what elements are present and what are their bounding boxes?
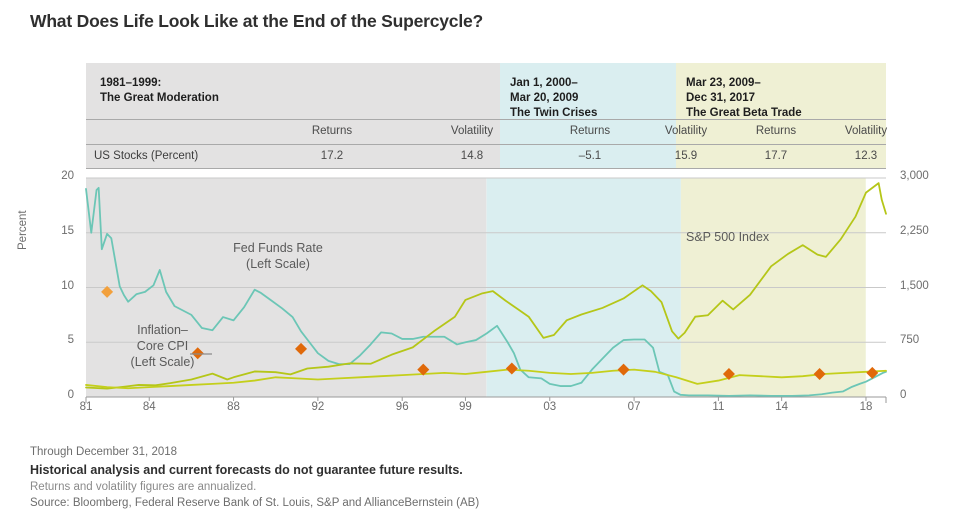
y-axis-tick-label: 0 [40, 389, 74, 401]
y2-axis-tick-label: 0 [900, 389, 950, 401]
annotation-inflation-line1: Inflation– [100, 322, 225, 338]
annotation-sp500: S&P 500 Index [686, 229, 806, 245]
y2-axis-tick-label: 2,250 [900, 225, 950, 237]
x-axis-tick-label: 03 [530, 401, 570, 413]
y2-axis-tick-label: 750 [900, 334, 950, 346]
footer-through: Through December 31, 2018 [30, 446, 177, 458]
x-axis-tick-label: 18 [846, 401, 886, 413]
x-axis-tick-label: 81 [66, 401, 106, 413]
chart-canvas [0, 0, 964, 514]
x-axis-tick-label: 92 [298, 401, 338, 413]
y2-axis-tick-label: 1,500 [900, 280, 950, 292]
y-axis-tick-label: 10 [40, 280, 74, 292]
x-axis-tick-label: 96 [382, 401, 422, 413]
footer-note: Returns and volatility figures are annua… [30, 481, 256, 493]
x-axis-tick-label: 11 [698, 401, 738, 413]
y-axis-tick-label: 15 [40, 225, 74, 237]
x-axis-tick-label: 07 [614, 401, 654, 413]
annotation-inflation: Inflation– Core CPI (Left Scale) [100, 322, 225, 370]
annotation-inflation-line2: Core CPI [100, 338, 225, 354]
y-axis-tick-label: 20 [40, 170, 74, 182]
x-axis-tick-label: 88 [214, 401, 254, 413]
annotation-fed-funds-line2: (Left Scale) [198, 256, 358, 272]
x-axis-tick-label: 84 [129, 401, 169, 413]
y-axis-tick-label: 5 [40, 334, 74, 346]
chart-page: What Does Life Look Like at the End of t… [0, 0, 964, 514]
annotation-fed-funds-line1: Fed Funds Rate [198, 240, 358, 256]
annotation-fed-funds: Fed Funds Rate (Left Scale) [198, 240, 358, 272]
annotation-inflation-line3: (Left Scale) [100, 354, 225, 370]
footer-source: Source: Bloomberg, Federal Reserve Bank … [30, 497, 479, 509]
footer-disclaimer: Historical analysis and current forecast… [30, 463, 463, 477]
y2-axis-tick-label: 3,000 [900, 170, 950, 182]
x-axis-tick-label: 14 [762, 401, 802, 413]
x-axis-tick-label: 99 [445, 401, 485, 413]
y-axis-title: Percent [17, 160, 29, 250]
